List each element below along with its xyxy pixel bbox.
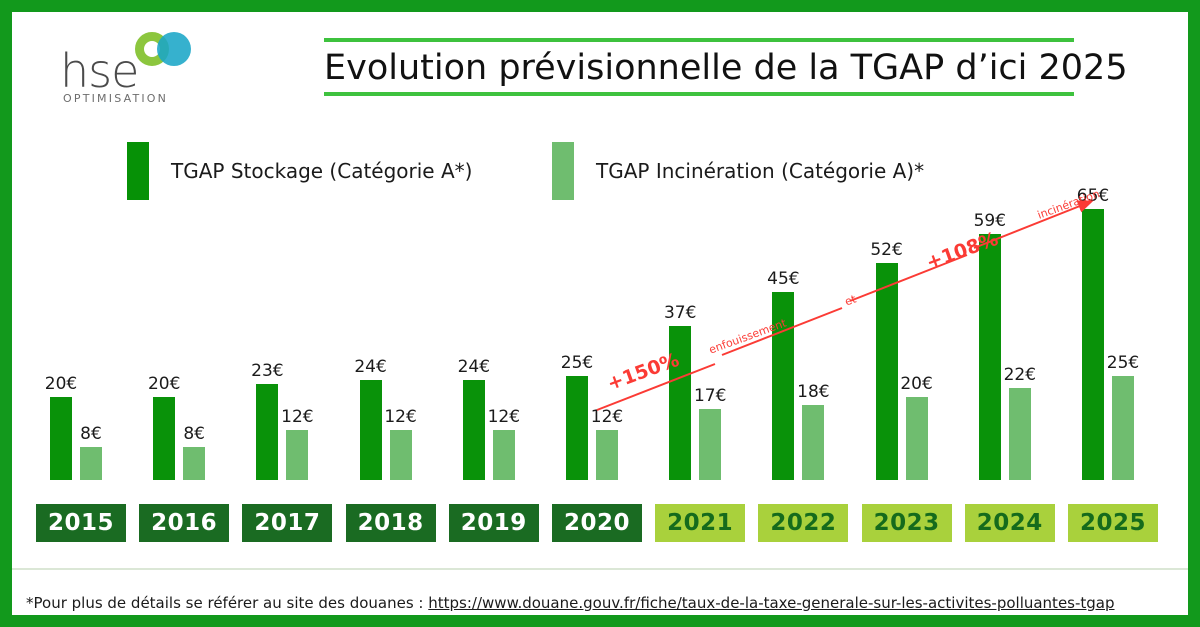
bar-pair: 45€18€ bbox=[772, 292, 824, 480]
year-label-2021[interactable]: 2021 bbox=[655, 504, 745, 542]
bar-value-label: 20€ bbox=[148, 374, 180, 394]
bar-pair: 37€17€ bbox=[669, 326, 721, 480]
year-label-2017[interactable]: 2017 bbox=[242, 504, 332, 542]
year-label-2015[interactable]: 2015 bbox=[36, 504, 126, 542]
footnote-link[interactable]: https://www.douane.gouv.fr/fiche/taux-de… bbox=[428, 594, 1114, 612]
bar-incineration-2025[interactable]: 25€ bbox=[1112, 376, 1134, 480]
bar-stockage-2023[interactable]: 52€ bbox=[876, 263, 898, 480]
bar-value-label: 20€ bbox=[900, 374, 932, 394]
bar-value-label: 12€ bbox=[591, 407, 623, 427]
bar-incineration-2018[interactable]: 12€ bbox=[390, 430, 412, 480]
bar-incineration-2017[interactable]: 12€ bbox=[286, 430, 308, 480]
bar-incineration-2024[interactable]: 22€ bbox=[1009, 388, 1031, 480]
bar-incineration-2019[interactable]: 12€ bbox=[493, 430, 515, 480]
bar-pair: 65€25€ bbox=[1082, 209, 1134, 480]
bar-stockage-2018[interactable]: 24€ bbox=[360, 380, 382, 480]
bar-value-label: 25€ bbox=[561, 353, 593, 373]
bar-pair: 20€8€ bbox=[50, 397, 102, 480]
bar-stockage-2025[interactable]: 65€ bbox=[1082, 209, 1104, 480]
year-label-2022[interactable]: 2022 bbox=[758, 504, 848, 542]
bar-incineration-2015[interactable]: 8€ bbox=[80, 447, 102, 480]
bar-stockage-2021[interactable]: 37€ bbox=[669, 326, 691, 480]
footnote: *Pour plus de détails se référer au site… bbox=[26, 594, 1115, 612]
bar-stockage-2016[interactable]: 20€ bbox=[153, 397, 175, 480]
bar-stockage-2024[interactable]: 59€ bbox=[979, 234, 1001, 480]
bar-incineration-2023[interactable]: 20€ bbox=[906, 397, 928, 480]
bar-pair: 25€12€ bbox=[566, 376, 618, 480]
bar-pair: 59€22€ bbox=[979, 234, 1031, 480]
bar-incineration-2020[interactable]: 12€ bbox=[596, 430, 618, 480]
bar-incineration-2016[interactable]: 8€ bbox=[183, 447, 205, 480]
bar-pair: 52€20€ bbox=[876, 263, 928, 480]
bar-incineration-2022[interactable]: 18€ bbox=[802, 405, 824, 480]
year-label-2024[interactable]: 2024 bbox=[965, 504, 1055, 542]
bar-value-label: 24€ bbox=[354, 357, 386, 377]
bar-value-label: 45€ bbox=[767, 269, 799, 289]
bar-stockage-2019[interactable]: 24€ bbox=[463, 380, 485, 480]
bar-value-label: 17€ bbox=[694, 386, 726, 406]
bar-stockage-2020[interactable]: 25€ bbox=[566, 376, 588, 480]
footnote-text: *Pour plus de détails se référer au site… bbox=[26, 594, 428, 612]
year-label-2019[interactable]: 2019 bbox=[449, 504, 539, 542]
bar-value-label: 23€ bbox=[251, 361, 283, 381]
bar-stockage-2017[interactable]: 23€ bbox=[256, 384, 278, 480]
year-label-2020[interactable]: 2020 bbox=[552, 504, 642, 542]
infographic-page: hse OPTIMISATION Evolution prévisionnell… bbox=[0, 0, 1200, 627]
bar-chart: 20€8€201520€8€201623€12€201724€12€201824… bbox=[12, 12, 1188, 615]
year-label-2016[interactable]: 2016 bbox=[139, 504, 229, 542]
bar-value-label: 24€ bbox=[458, 357, 490, 377]
bar-value-label: 59€ bbox=[974, 211, 1006, 231]
bar-value-label: 18€ bbox=[797, 382, 829, 402]
bar-pair: 24€12€ bbox=[463, 380, 515, 480]
bar-stockage-2022[interactable]: 45€ bbox=[772, 292, 794, 480]
bar-stockage-2015[interactable]: 20€ bbox=[50, 397, 72, 480]
bar-value-label: 12€ bbox=[281, 407, 313, 427]
bar-value-label: 8€ bbox=[183, 424, 205, 444]
bar-value-label: 37€ bbox=[664, 303, 696, 323]
bar-value-label: 65€ bbox=[1077, 186, 1109, 206]
bar-pair: 23€12€ bbox=[256, 384, 308, 480]
year-label-2018[interactable]: 2018 bbox=[346, 504, 436, 542]
bar-pair: 24€12€ bbox=[360, 380, 412, 480]
bar-value-label: 22€ bbox=[1004, 365, 1036, 385]
bar-value-label: 12€ bbox=[488, 407, 520, 427]
bar-pair: 20€8€ bbox=[153, 397, 205, 480]
infographic-stage: hse OPTIMISATION Evolution prévisionnell… bbox=[12, 12, 1188, 615]
bar-incineration-2021[interactable]: 17€ bbox=[699, 409, 721, 480]
year-label-2023[interactable]: 2023 bbox=[862, 504, 952, 542]
year-label-2025[interactable]: 2025 bbox=[1068, 504, 1158, 542]
bar-value-label: 52€ bbox=[870, 240, 902, 260]
bar-value-label: 8€ bbox=[80, 424, 102, 444]
bar-value-label: 25€ bbox=[1107, 353, 1139, 373]
bar-value-label: 12€ bbox=[384, 407, 416, 427]
footnote-divider bbox=[12, 568, 1188, 570]
bar-value-label: 20€ bbox=[45, 374, 77, 394]
